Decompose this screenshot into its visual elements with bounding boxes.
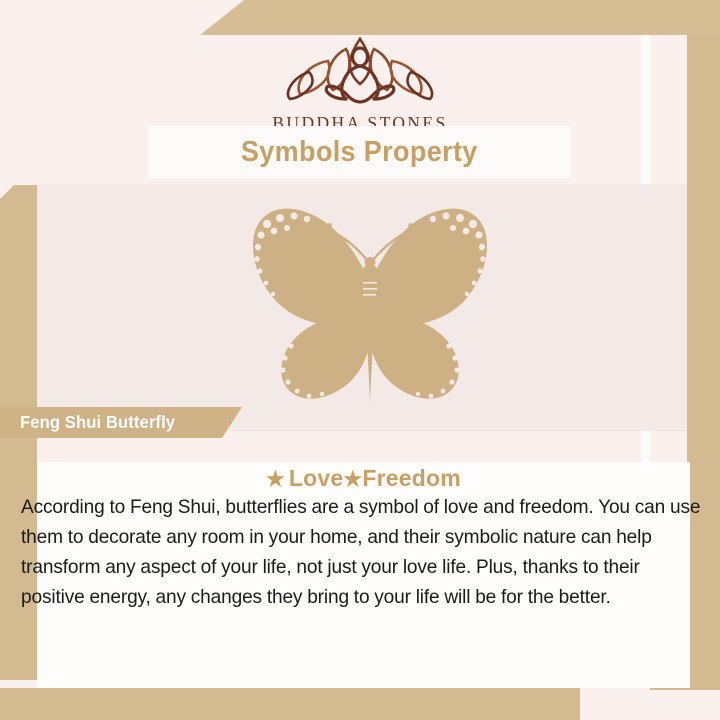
page-title: Symbols Property	[241, 136, 478, 169]
star-icon-middle: ★	[343, 468, 362, 491]
content-panel: ★Love★Freedom According to Feng Shui, bu…	[37, 462, 690, 688]
lotus-meditation-icon	[284, 26, 436, 106]
feng-shui-butterfly-ribbon: Feng Shui Butterfly	[0, 407, 242, 438]
frame-bottom-band	[0, 688, 580, 720]
poster-root: BUDDHA STONES Symbols Property	[0, 0, 720, 720]
monarch-butterfly-illustration	[205, 202, 535, 402]
heading-word-love: Love	[289, 465, 343, 491]
hero-stage	[37, 184, 687, 431]
title-banner: Symbols Property	[148, 126, 570, 178]
heading-word-freedom: Freedom	[362, 465, 461, 491]
star-icon-left: ★	[266, 468, 289, 491]
body-paragraph: According to Feng Shui, butterflies are …	[21, 492, 701, 612]
ribbon-label: Feng Shui Butterfly	[20, 412, 175, 433]
brand-block: BUDDHA STONES	[0, 26, 720, 134]
content-heading: ★Love★Freedom	[37, 465, 690, 492]
